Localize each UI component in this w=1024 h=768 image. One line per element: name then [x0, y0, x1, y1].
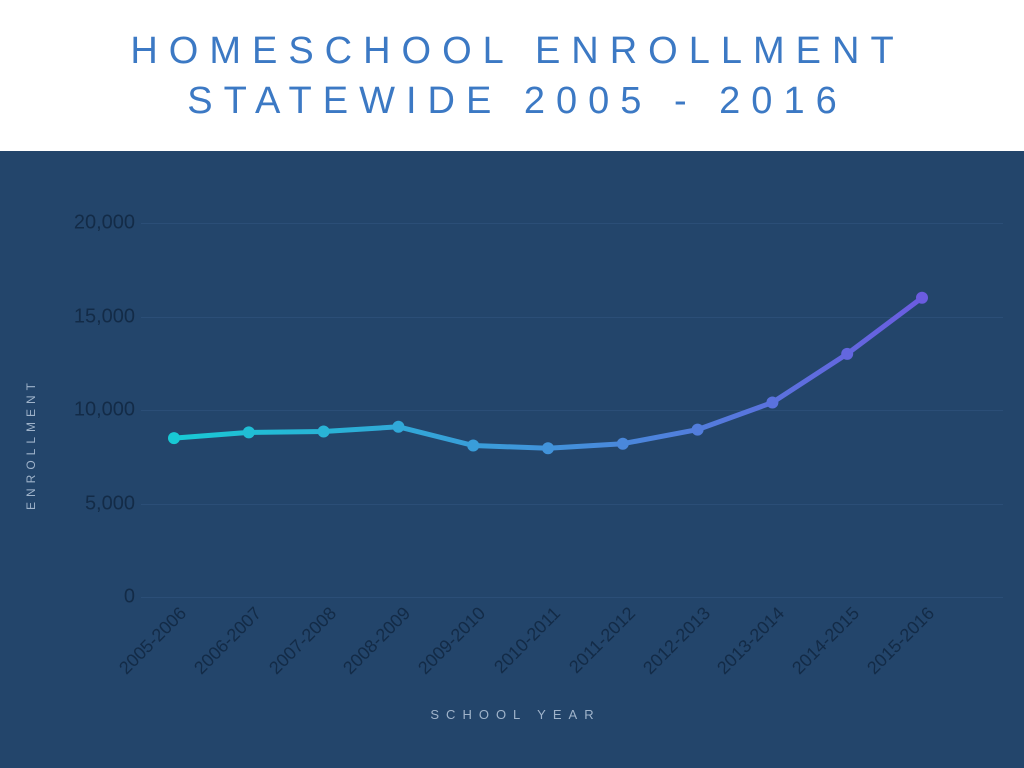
- plot-area: 05,00010,00015,00020,000 ENROLLMENT 2005…: [0, 151, 1024, 768]
- x-axis-title: SCHOOL YEAR: [0, 707, 1024, 722]
- page-title-line-2: STATEWIDE 2005 - 2016: [176, 76, 847, 126]
- page-title-line-1: HOMESCHOOL ENROLLMENT: [119, 26, 904, 76]
- x-axis-tick-label: 2014-2015: [778, 603, 864, 689]
- slide-canvas: HOMESCHOOL ENROLLMENT STATEWIDE 2005 - 2…: [0, 0, 1024, 768]
- title-band: HOMESCHOOL ENROLLMENT STATEWIDE 2005 - 2…: [0, 0, 1024, 151]
- x-axis-tick-labels: 2005-20062006-20072007-20082008-20092009…: [0, 151, 1024, 768]
- x-axis-tick-label: 2008-2009: [330, 603, 416, 689]
- x-axis-tick-label: 2005-2006: [105, 603, 191, 689]
- x-axis-tick-label: 2012-2013: [629, 603, 715, 689]
- x-axis-tick-label: 2013-2014: [704, 603, 790, 689]
- x-axis-tick-label: 2009-2010: [404, 603, 490, 689]
- x-axis-tick-label: 2010-2011: [479, 603, 565, 689]
- x-axis-tick-label: 2007-2008: [255, 603, 341, 689]
- x-axis-tick-label: 2015-2016: [853, 603, 939, 689]
- x-axis-tick-label: 2006-2007: [180, 603, 266, 689]
- chart-panel: 05,00010,00015,00020,000 ENROLLMENT 2005…: [0, 151, 1024, 768]
- x-axis-tick-label: 2011-2012: [554, 603, 640, 689]
